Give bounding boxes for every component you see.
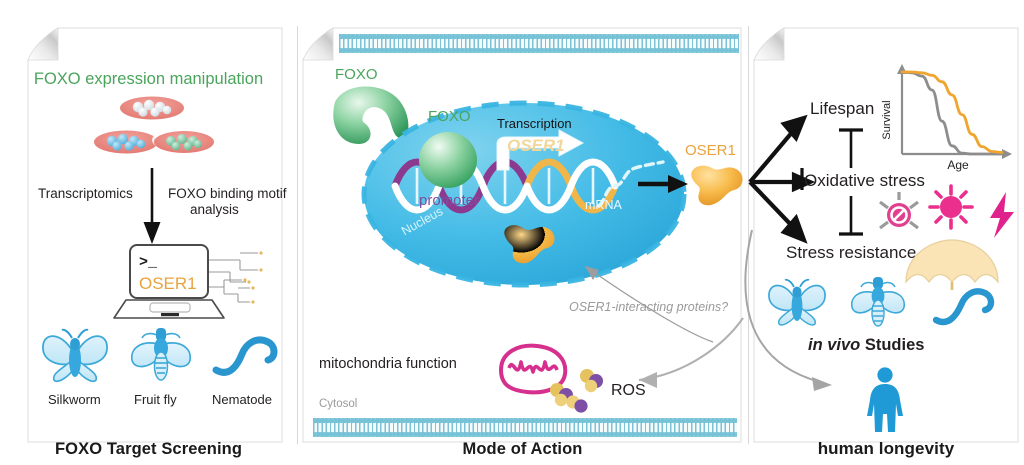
cell-membrane-bottom (313, 418, 737, 437)
panel-title-mode-of-action: Mode of Action (297, 440, 748, 459)
chart-ylabel: Survival (881, 100, 893, 139)
inhibit-cap-oxidative (795, 166, 809, 192)
pathogen-icon (880, 192, 918, 228)
computer-analysis-icon: >_ OSER1 (112, 242, 280, 328)
ros-particles (545, 368, 609, 412)
label-oser1-cytosolic: OSER1 (685, 142, 736, 159)
label-transcription: Transcription (497, 116, 572, 131)
cell-membrane-top (339, 34, 739, 53)
gene-name-oser1: OSER1 (139, 274, 197, 293)
label-oser1-interacting-proteins: OSER1-interacting proteins? (569, 300, 728, 314)
foxo-protein-bound (415, 130, 481, 192)
survival-curve-OSER1 (902, 72, 1002, 152)
translation-arrow (638, 172, 690, 196)
label-foxo-nucleus: FOXO (428, 108, 471, 125)
label-gene-oser1: OSER1 (507, 136, 565, 156)
oser1-protein-cytosolic (686, 162, 748, 210)
label-cytosol: Cytosol (319, 398, 357, 410)
organism-label-silkworm: Silkworm (48, 392, 101, 407)
lightning-icon (990, 192, 1014, 238)
graphical-abstract: FOXO expression manipulation (0, 0, 1024, 465)
nematode-icon (212, 330, 280, 384)
workflow-arrow-down (140, 168, 164, 246)
label-foxo-binding-analysis: analysis (190, 202, 239, 217)
dish-knockdown (92, 127, 160, 154)
cell-culture-dishes (82, 84, 222, 170)
dish-overexpression (152, 128, 216, 154)
outcome-label-lifespan: Lifespan (810, 99, 874, 119)
terminal-prompt: >_ (139, 254, 158, 271)
label-mrna: mRNA (585, 198, 622, 212)
nematode-icon-invivo (932, 282, 998, 332)
survival-curve-chart: Survival Age (878, 62, 1018, 170)
silkworm-icon (40, 326, 110, 388)
human-figure-icon (862, 366, 908, 434)
sun-icon (930, 186, 972, 228)
panel-title-human-longevity: human longevity (748, 439, 1024, 459)
panel-mode-of-action: FOXO (297, 0, 748, 465)
label-foxo-cytosol: FOXO (335, 66, 378, 83)
organism-label-nematode: Nematode (212, 392, 272, 407)
panel-foxo-target-screening: FOXO expression manipulation (0, 0, 297, 465)
label-ros: ROS (611, 382, 646, 400)
fruitfly-icon (128, 322, 194, 388)
label-foxo-binding-motif: FOXO binding motif (168, 186, 287, 201)
organism-label-fruitfly: Fruit fly (134, 392, 177, 407)
label-mitochondria-function: mitochondria function (319, 356, 457, 372)
label-promoter: promoter (419, 192, 479, 209)
chart-xlabel: Age (947, 158, 969, 172)
inhibit-bar-lifespan (836, 122, 866, 168)
panel-title-screening: FOXO Target Screening (0, 440, 297, 459)
survival-curve-control (902, 72, 1002, 154)
label-transcriptomics: Transcriptomics (38, 186, 133, 201)
panel-outcomes: Lifespan Oxidative stress Stress resista… (748, 0, 1024, 465)
dish-control (118, 93, 186, 120)
